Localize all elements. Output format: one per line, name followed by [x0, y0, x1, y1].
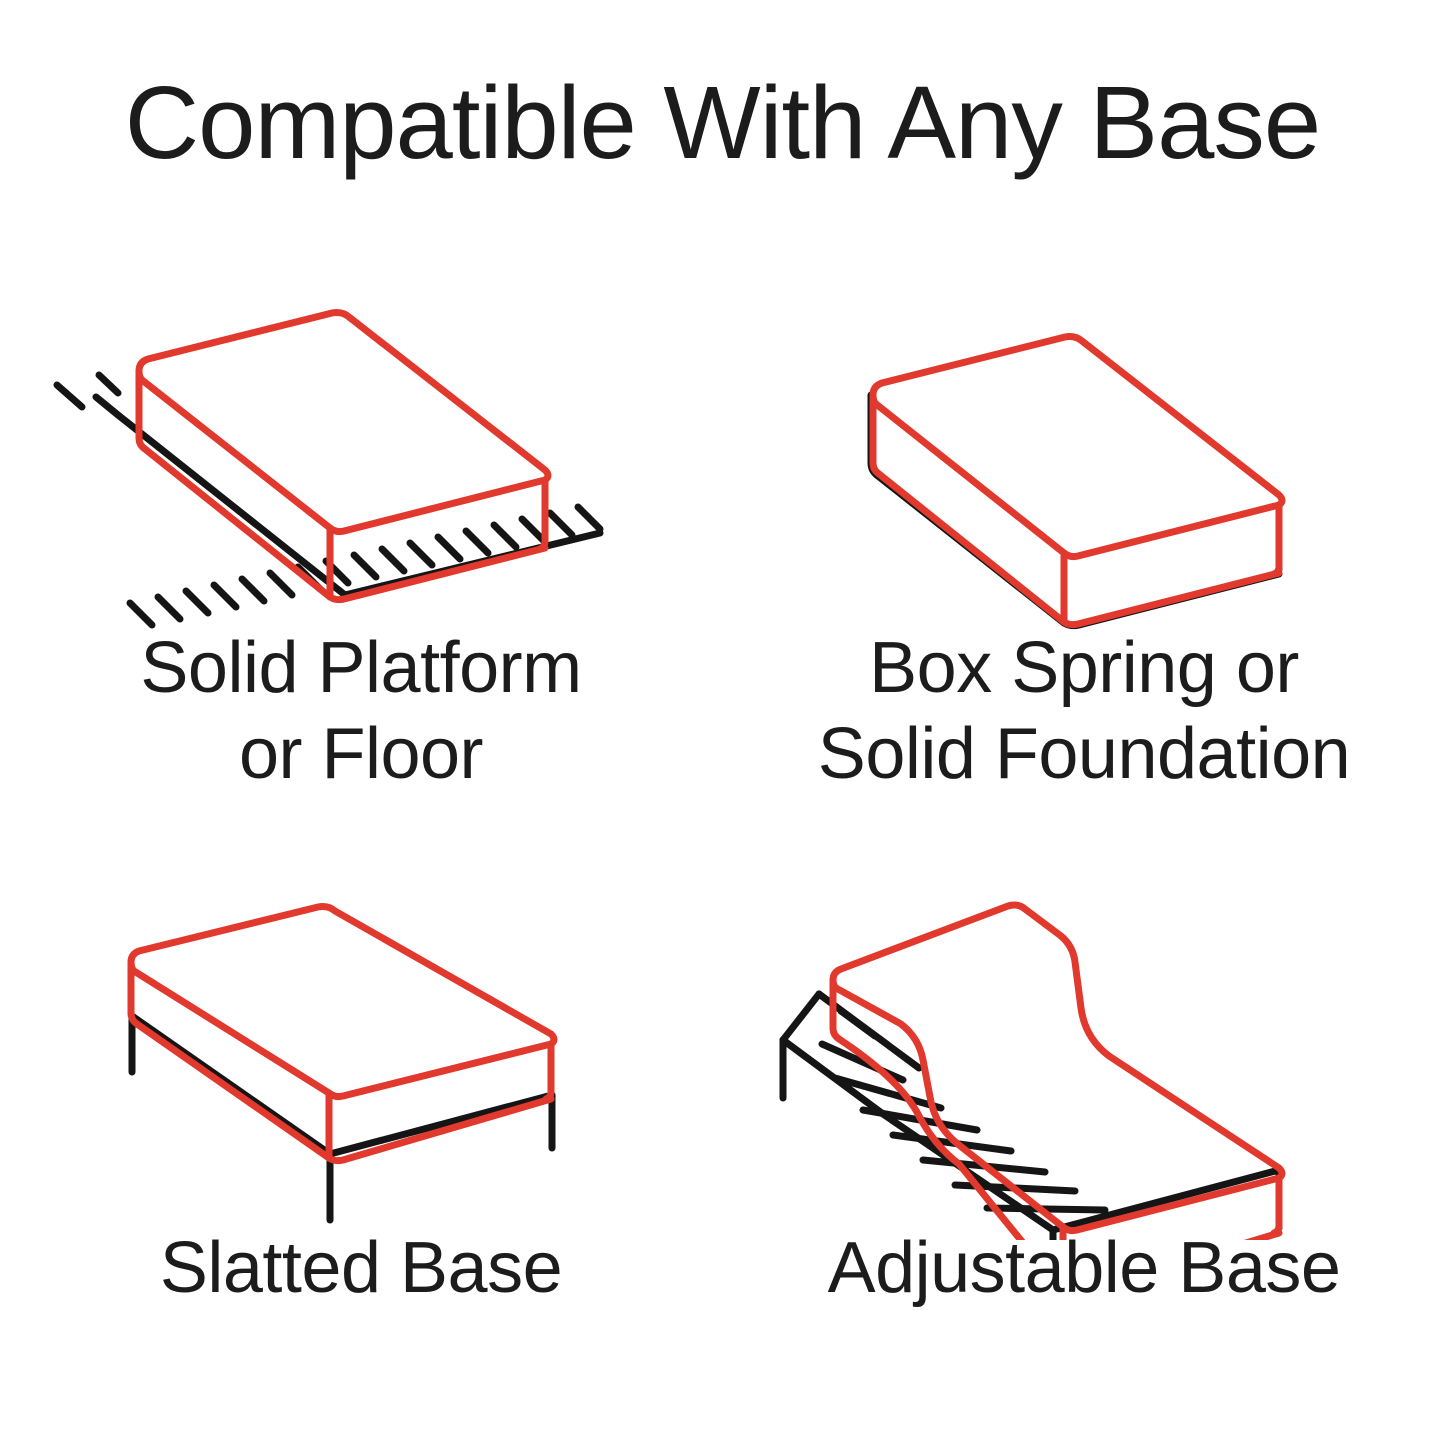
caption-box-spring: Box Spring or Solid Foundation — [723, 625, 1445, 798]
base-option-solid-platform: Solid Platform or Floor — [0, 285, 722, 875]
caption-line-1: Box Spring or — [723, 625, 1445, 711]
mattress-on-adjustable-base-diagram — [723, 880, 1445, 1240]
page-title: Compatible With Any Base — [0, 62, 1445, 184]
caption-line-1: Adjustable Base — [723, 1225, 1445, 1311]
caption-slatted-base: Slatted Base — [0, 1225, 722, 1311]
mattress-on-slatted-base-diagram — [0, 880, 722, 1240]
mattress-outline — [139, 313, 548, 600]
mattress-on-solid-platform-diagram — [0, 285, 722, 645]
infographic-page: Compatible With Any Base — [0, 0, 1445, 1445]
base-option-slatted: Slatted Base — [0, 880, 722, 1445]
mattress-outline — [131, 907, 554, 1161]
base-option-adjustable: Adjustable Base — [723, 880, 1445, 1445]
caption-line-1: Solid Platform — [0, 625, 722, 711]
mattress-outline — [873, 337, 1282, 625]
caption-adjustable-base: Adjustable Base — [723, 1225, 1445, 1311]
frame-slat — [841, 1011, 875, 1036]
mattress-on-box-spring-diagram — [723, 285, 1445, 645]
caption-solid-platform: Solid Platform or Floor — [0, 625, 722, 798]
caption-line-2: or Floor — [0, 711, 722, 797]
caption-line-2: Solid Foundation — [723, 711, 1445, 797]
caption-line-1: Slatted Base — [0, 1225, 722, 1311]
frame-rail-right — [1053, 1170, 1279, 1230]
base-option-box-spring: Box Spring or Solid Foundation — [723, 285, 1445, 875]
